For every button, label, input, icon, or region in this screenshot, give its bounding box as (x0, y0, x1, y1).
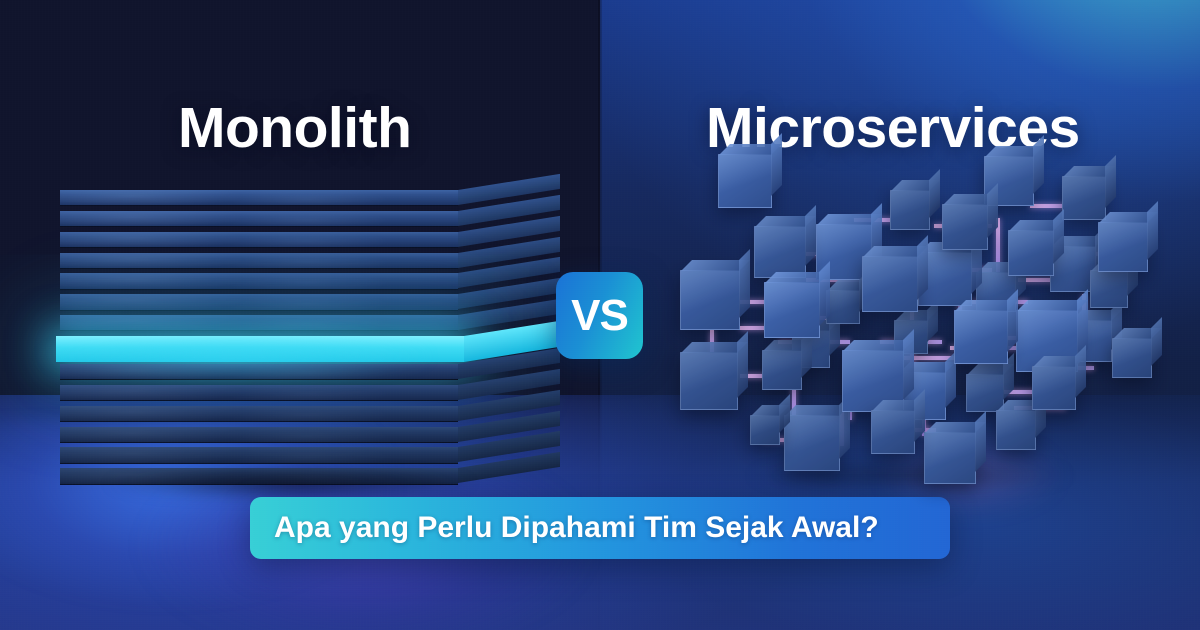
service-cube-side-face (739, 249, 750, 318)
monolith-slab (60, 385, 458, 400)
service-cube-side-face (771, 133, 782, 196)
poster-canvas: Monolith Microservices VS Apa yang Perlu… (0, 0, 1200, 630)
service-cube-highlight (765, 283, 819, 337)
subtitle-banner: Apa yang Perlu Dipahami Tim Sejak Awal? (250, 497, 950, 559)
monolith-slab (60, 190, 458, 205)
service-cube-highlight (785, 416, 839, 470)
service-cube (826, 290, 860, 324)
service-cube (762, 350, 802, 390)
service-cube (871, 410, 915, 454)
service-cube-side-face (1151, 317, 1162, 366)
service-cube (750, 415, 780, 445)
service-cube (764, 282, 820, 338)
monolith-slab-texture (60, 294, 458, 309)
service-cube (1112, 338, 1152, 378)
vs-badge: VS (556, 272, 643, 359)
service-cube-highlight (863, 257, 917, 311)
monolith-slab-texture (60, 364, 458, 379)
service-cube-highlight (681, 271, 739, 329)
service-cube-highlight (1099, 223, 1147, 271)
service-cube-highlight (827, 291, 859, 323)
service-cube-highlight (891, 191, 929, 229)
service-cube (784, 415, 840, 471)
service-cube-highlight (719, 155, 771, 207)
monolith-slab (60, 447, 458, 462)
monolith-slab (60, 232, 458, 247)
monolith-illustration (52, 190, 522, 482)
service-cube-highlight (1063, 177, 1105, 219)
monolith-slab (60, 427, 458, 442)
service-cube (996, 410, 1036, 450)
service-cube-highlight (925, 433, 975, 483)
monolith-slab-texture (60, 232, 458, 247)
service-cube (1090, 270, 1128, 308)
service-cube-highlight (997, 411, 1035, 449)
service-cube (862, 256, 918, 312)
service-cube-side-face (1105, 155, 1116, 208)
service-cube-side-face (903, 329, 914, 400)
service-cube (924, 432, 976, 484)
monolith-slab-texture (60, 447, 458, 462)
monolith-slab-texture (60, 406, 458, 421)
service-cube-highlight (1091, 271, 1127, 307)
service-cube-highlight (751, 416, 779, 444)
service-cube-side-face (737, 331, 748, 398)
monolith-slab (60, 294, 458, 309)
service-cube (1098, 222, 1148, 272)
service-cube (954, 310, 1008, 364)
monolith-slab-texture (60, 211, 458, 226)
service-cube (942, 204, 988, 250)
monolith-slab-texture (60, 315, 458, 330)
monolith-slab-texture (60, 385, 458, 400)
microservices-illustration (666, 160, 1186, 480)
service-cube-highlight (872, 411, 914, 453)
monolith-slab-texture (60, 190, 458, 205)
service-cube (680, 352, 738, 410)
service-cube-highlight (755, 227, 805, 277)
service-cube-side-face (1007, 289, 1018, 352)
service-cube (1008, 230, 1054, 276)
service-cube-highlight (681, 353, 737, 409)
service-cube (754, 226, 806, 278)
monolith-slab (60, 406, 458, 421)
service-cube-side-face (819, 261, 830, 326)
monolith-slab-texture (60, 427, 458, 442)
monolith-slab (60, 211, 458, 226)
service-cube (890, 190, 930, 230)
service-cube-highlight (943, 205, 987, 249)
title-monolith: Monolith (178, 95, 411, 161)
service-cube (966, 374, 1004, 412)
service-cube-highlight (763, 351, 801, 389)
service-cube (1032, 366, 1076, 410)
service-cube-highlight (955, 311, 1007, 363)
monolith-slab-texture (60, 273, 458, 288)
service-cube (718, 154, 772, 208)
service-cube-highlight (967, 375, 1003, 411)
monolith-slab (60, 253, 458, 268)
service-cube-side-face (1075, 345, 1086, 398)
service-cube-side-face (917, 235, 928, 300)
service-cube-side-face (1147, 201, 1158, 260)
vs-label: VS (571, 294, 628, 338)
service-cube-side-face (929, 169, 940, 218)
monolith-slab (60, 315, 458, 330)
service-cube-highlight (1009, 231, 1053, 275)
subtitle-banner-text: Apa yang Perlu Dipahami Tim Sejak Awal? (250, 511, 879, 545)
monolith-glow-layer (56, 336, 464, 362)
service-cube-side-face (805, 205, 816, 266)
service-cube-highlight (1033, 367, 1075, 409)
service-cube (680, 270, 740, 330)
service-cube-highlight (1113, 339, 1151, 377)
monolith-slab (60, 364, 458, 379)
monolith-slab (60, 273, 458, 288)
microservices-shadow (700, 462, 1120, 492)
service-cube-side-face (1033, 135, 1044, 194)
monolith-slab-texture (60, 253, 458, 268)
service-cube (1062, 176, 1106, 220)
